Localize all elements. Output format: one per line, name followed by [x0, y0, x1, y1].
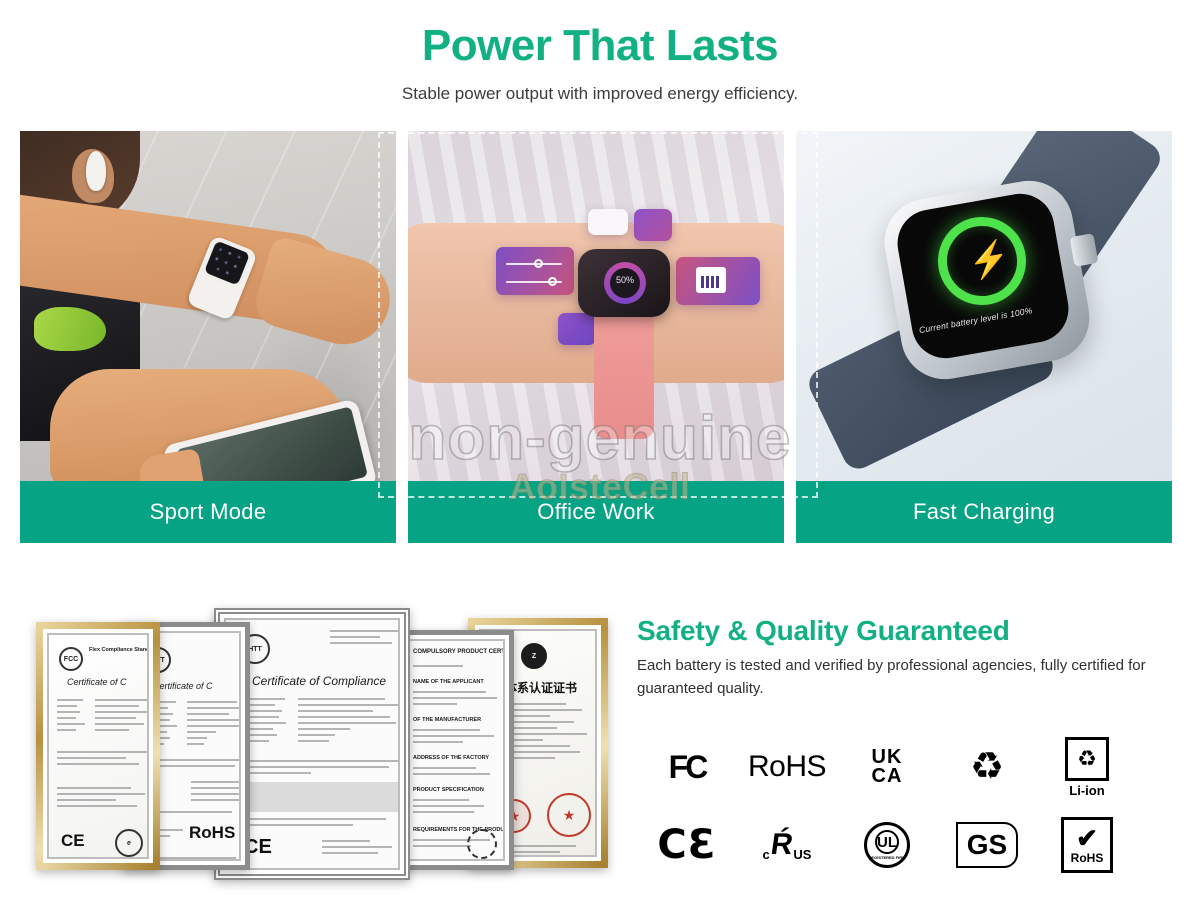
feature-panel-fast-charging[interactable]: ⚡ Current battery level is 100% Fast Cha…: [796, 131, 1172, 543]
cert-heading-fcc: Certificate of C: [67, 677, 127, 687]
cert-logo-secondary: e: [115, 829, 143, 857]
bottom-section: Z 理体系认证证书 ★ ★ COMPULSORY: [0, 560, 1200, 900]
gs-icon: GS: [956, 822, 1018, 868]
ukca-icon: UK CA: [872, 748, 903, 786]
cert-seal: [467, 829, 497, 859]
cert-section-2: OF THE MANUFACTURER: [413, 717, 481, 723]
certification-badges: FC RoHS UK CA ♻ ♻ Li-ion: [637, 728, 1137, 884]
certificate-ccc[interactable]: COMPULSORY PRODUCT CERTIFICATION NAME OF…: [396, 630, 514, 870]
watch-battery-percent: 50%: [604, 275, 646, 285]
ul-icon: UL REGISTERED FIRM: [864, 822, 910, 868]
office-work-photo: 50%: [408, 131, 784, 481]
lightning-bolt-icon: ⚡: [965, 240, 1013, 281]
fast-charging-photo: ⚡ Current battery level is 100%: [796, 131, 1172, 481]
badge-fcc: FC: [637, 728, 737, 806]
rohs-check-icon: ✔ RoHS: [1061, 817, 1113, 873]
marketing-page: Power That Lasts Stable power output wit…: [0, 0, 1200, 900]
fcc-icon: FC: [669, 749, 706, 786]
cert-subheading-fcc: Flex Compliance Standard: [89, 647, 149, 653]
feature-panel-sport-mode[interactable]: Sport Mode: [20, 131, 396, 543]
badge-ce: CƐ: [637, 806, 737, 884]
badge-ukca: UK CA: [837, 728, 937, 806]
cert-mark-rohs: RoHS: [189, 823, 235, 843]
panel-caption-office-work: Office Work: [408, 481, 784, 543]
watch-crown: [1070, 233, 1099, 267]
ce-icon: CƐ: [657, 822, 716, 868]
certificate-fcc[interactable]: FCC Flex Compliance Standard Certificate…: [36, 622, 160, 870]
badge-c-ul-us: c Ŕ US: [737, 806, 837, 884]
badge-row-1: FC RoHS UK CA ♻ ♻ Li-ion: [637, 728, 1137, 806]
panel-caption-sport-mode: Sport Mode: [20, 481, 396, 543]
badge-row-2: CƐ c Ŕ US UL REGISTERED FIRM GS: [637, 806, 1137, 884]
badge-gs: GS: [937, 806, 1037, 884]
cert-section-3: ADDRESS OF THE FACTORY: [413, 755, 489, 761]
cert-logo-z: Z: [521, 643, 547, 669]
recycle-icon: ♻: [970, 748, 1004, 786]
panel-caption-fast-charging: Fast Charging: [796, 481, 1172, 543]
cert-heading-ccc: COMPULSORY PRODUCT CERTIFICATION: [413, 649, 505, 655]
feature-panel-office-work[interactable]: 50% Office Work: [408, 131, 784, 543]
badge-li-ion: ♻ Li-ion: [1037, 728, 1137, 806]
certificates-collage: Z 理体系认证证书 ★ ★ COMPULSORY: [18, 600, 618, 890]
page-title: Power That Lasts: [0, 0, 1200, 70]
feature-panels: Sport Mode 50% Office Work: [20, 131, 1180, 543]
badge-recycle: ♻: [937, 728, 1037, 806]
safety-section: Safety & Quality Guaranteed Each battery…: [637, 615, 1182, 700]
li-ion-recycle-icon: ♻ Li-ion: [1065, 737, 1109, 798]
cert-mark-ce-fcc: CE: [61, 831, 85, 851]
badge-rohs-check: ✔ RoHS: [1037, 806, 1137, 884]
safety-description: Each battery is tested and verified by p…: [637, 655, 1182, 700]
page-subtitle: Stable power output with improved energy…: [0, 70, 1200, 104]
badge-ul-listed: UL REGISTERED FIRM: [837, 806, 937, 884]
page-header: Power That Lasts Stable power output wit…: [0, 0, 1200, 120]
sport-mode-photo: [20, 131, 396, 481]
cert-heading-htt-2: Certificate of C: [153, 681, 213, 691]
rohs-icon: RoHS: [748, 750, 826, 784]
safety-heading: Safety & Quality Guaranteed: [637, 615, 1182, 647]
cert-section-1: NAME OF THE APPLICANT: [413, 679, 484, 685]
cert-section-4: PRODUCT SPECIFICATION: [413, 787, 484, 793]
cert-heading-htt: Certificate of Compliance: [252, 674, 386, 688]
cert-logo-fcc: FCC: [59, 647, 83, 671]
badge-rohs: RoHS: [737, 728, 837, 806]
cert-stamp-red-star: ★: [547, 793, 591, 837]
c-ul-us-icon: c Ŕ US: [763, 828, 812, 862]
